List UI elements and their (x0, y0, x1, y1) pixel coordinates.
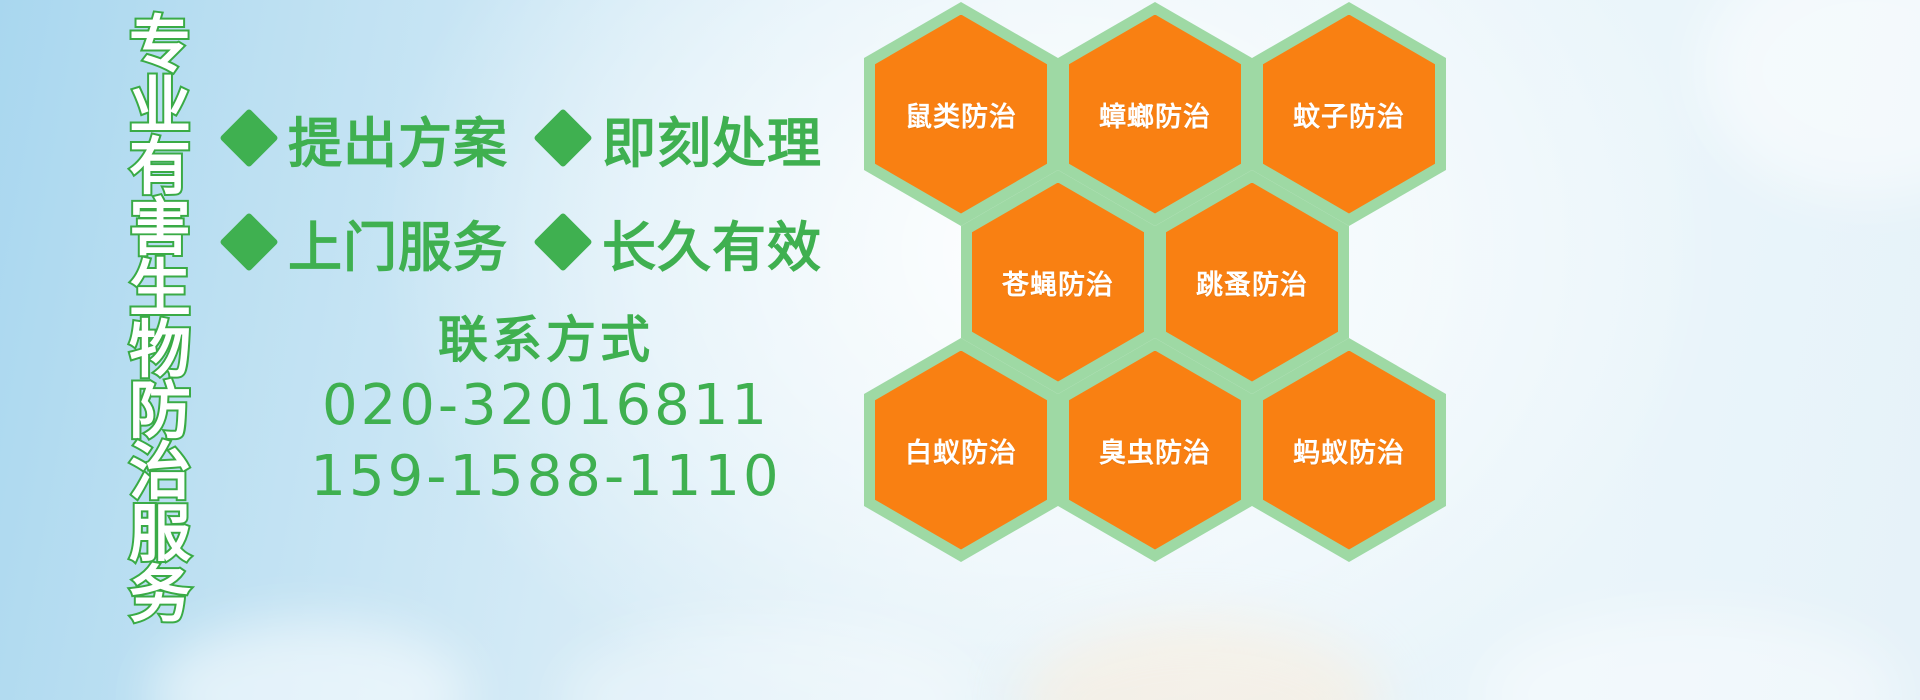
service-hex-label: 蟑螂防治 (1099, 95, 1211, 134)
feature-label: 长久有效 (602, 203, 822, 282)
vertical-headline-char: 务 (129, 564, 191, 625)
service-hex-label: 鼠类防治 (905, 95, 1017, 134)
vertical-headline-char: 有 (129, 136, 191, 197)
feature-row: 上门服务 长久有效 (228, 190, 868, 294)
vertical-headline-char: 物 (129, 319, 191, 380)
diamond-bullet-icon (533, 212, 592, 271)
vertical-headline-char: 服 (129, 503, 191, 564)
feature-item-door-to-door-service: 上门服务 (228, 203, 508, 282)
banner-root: 专 业 有 害 生 物 防 治 服 务 提出方案 即刻处理 上门服务 (0, 0, 1920, 700)
vertical-headline-char: 防 (129, 380, 191, 441)
service-hex-label: 蚊子防治 (1293, 95, 1405, 134)
diamond-bullet-icon (219, 108, 278, 167)
vertical-headline: 专 业 有 害 生 物 防 治 服 务 (112, 14, 208, 625)
background-blur-blob (1480, 610, 1900, 700)
vertical-headline-char: 生 (129, 258, 191, 319)
vertical-headline-char: 害 (129, 197, 191, 258)
service-hex-label: 跳蚤防治 (1196, 263, 1308, 302)
feature-row: 提出方案 即刻处理 (228, 86, 868, 190)
service-hex-fill: 蟑螂防治 (1069, 15, 1241, 214)
service-hex-label: 蚂蚁防治 (1293, 431, 1405, 470)
diamond-bullet-icon (533, 108, 592, 167)
feature-label: 提出方案 (288, 99, 508, 178)
contact-label: 联系方式 (236, 312, 856, 370)
vertical-headline-char: 专 (129, 14, 191, 75)
service-hex-label: 白蚁防治 (905, 431, 1017, 470)
service-hex-fill: 跳蚤防治 (1166, 183, 1338, 382)
feature-item-propose-plan: 提出方案 (228, 99, 508, 178)
service-hex-fill: 鼠类防治 (875, 15, 1047, 214)
feature-label: 即刻处理 (602, 99, 822, 178)
background-blur-blob (150, 620, 470, 700)
service-hex-grid: 鼠类防治 蟑螂防治 蚊子防治 苍蝇防治 跳蚤防治 白蚁防治 (858, 0, 1478, 554)
feature-item-long-lasting-effect: 长久有效 (542, 203, 822, 282)
service-hex-label: 臭虫防治 (1099, 431, 1211, 470)
service-hex-fill: 蚊子防治 (1263, 15, 1435, 214)
contact-block: 联系方式 020-32016811 159-1588-1110 (236, 312, 856, 513)
contact-phone-mobile[interactable]: 159-1588-1110 (236, 441, 856, 513)
background-blur-blob (560, 620, 980, 700)
background-blur-blob (1700, 0, 1920, 200)
vertical-headline-char: 业 (129, 75, 191, 136)
service-hex-fill: 蚂蚁防治 (1263, 351, 1435, 550)
feature-label: 上门服务 (288, 203, 508, 282)
feature-list: 提出方案 即刻处理 上门服务 长久有效 (228, 86, 868, 294)
diamond-bullet-icon (219, 212, 278, 271)
background-blur-blob (1020, 620, 1380, 700)
service-hex-fill: 苍蝇防治 (972, 183, 1144, 382)
service-hex-fill: 白蚁防治 (875, 351, 1047, 550)
feature-item-immediate-handling: 即刻处理 (542, 99, 822, 178)
vertical-headline-char: 治 (129, 441, 191, 502)
contact-phone-landline[interactable]: 020-32016811 (236, 370, 856, 442)
service-hex-fill: 臭虫防治 (1069, 351, 1241, 550)
service-hex-label: 苍蝇防治 (1002, 263, 1114, 302)
